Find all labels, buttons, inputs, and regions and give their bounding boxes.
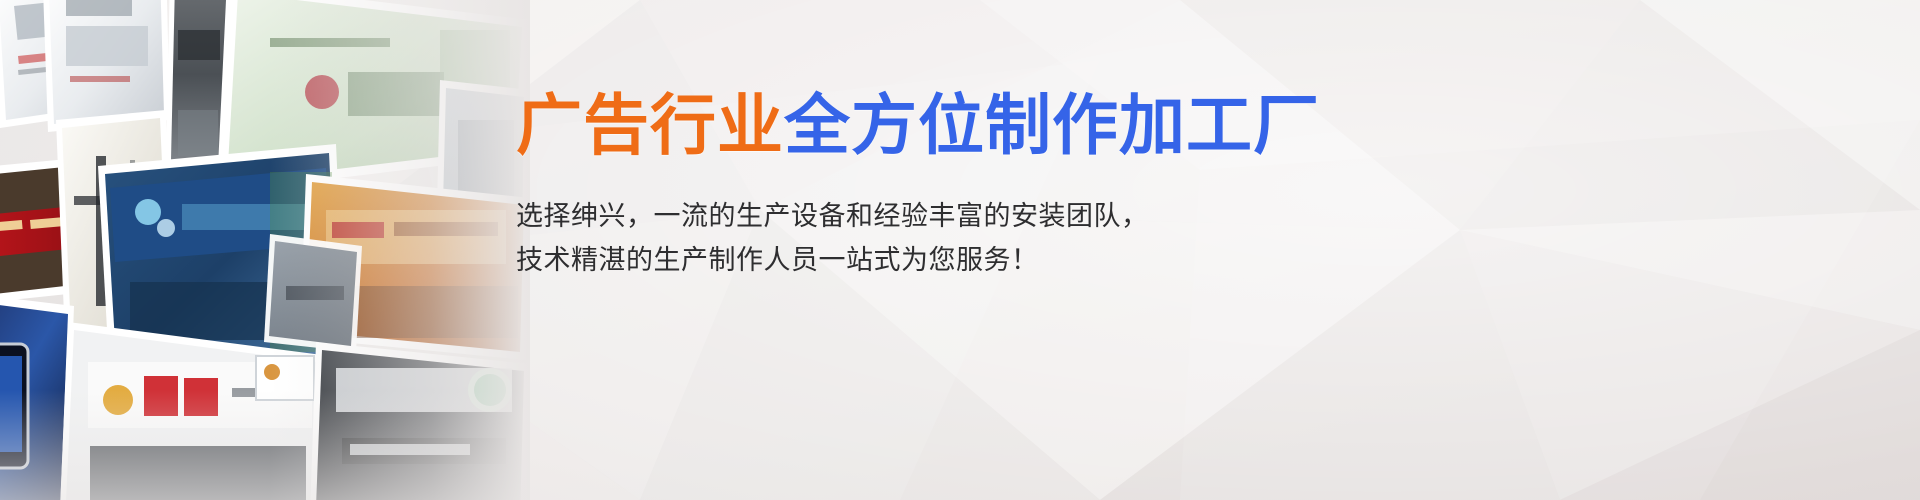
subtitle-line-2: 技术精湛的生产制作人员一站式为您服务！ (516, 239, 1616, 283)
advertising-signage-photo-collage (0, 0, 530, 500)
promo-banner: 广告行业全方位制作加工厂 选择绅兴，一流的生产设备和经验丰富的安装团队， 技术精… (0, 0, 1920, 500)
collage-artwork (0, 0, 530, 500)
headline-segment-orange: 广告行业 (516, 88, 784, 162)
headline-segment-blue: 全方位制作加工厂 (784, 88, 1320, 162)
subtitle-line-1: 选择绅兴，一流的生产设备和经验丰富的安装团队， (516, 195, 1616, 239)
banner-subtitle: 选择绅兴，一流的生产设备和经验丰富的安装团队， 技术精湛的生产制作人员一站式为您… (516, 159, 1616, 282)
page-title: 广告行业全方位制作加工厂 (516, 92, 1616, 159)
banner-text-block: 广告行业全方位制作加工厂 选择绅兴，一流的生产设备和经验丰富的安装团队， 技术精… (516, 92, 1616, 283)
